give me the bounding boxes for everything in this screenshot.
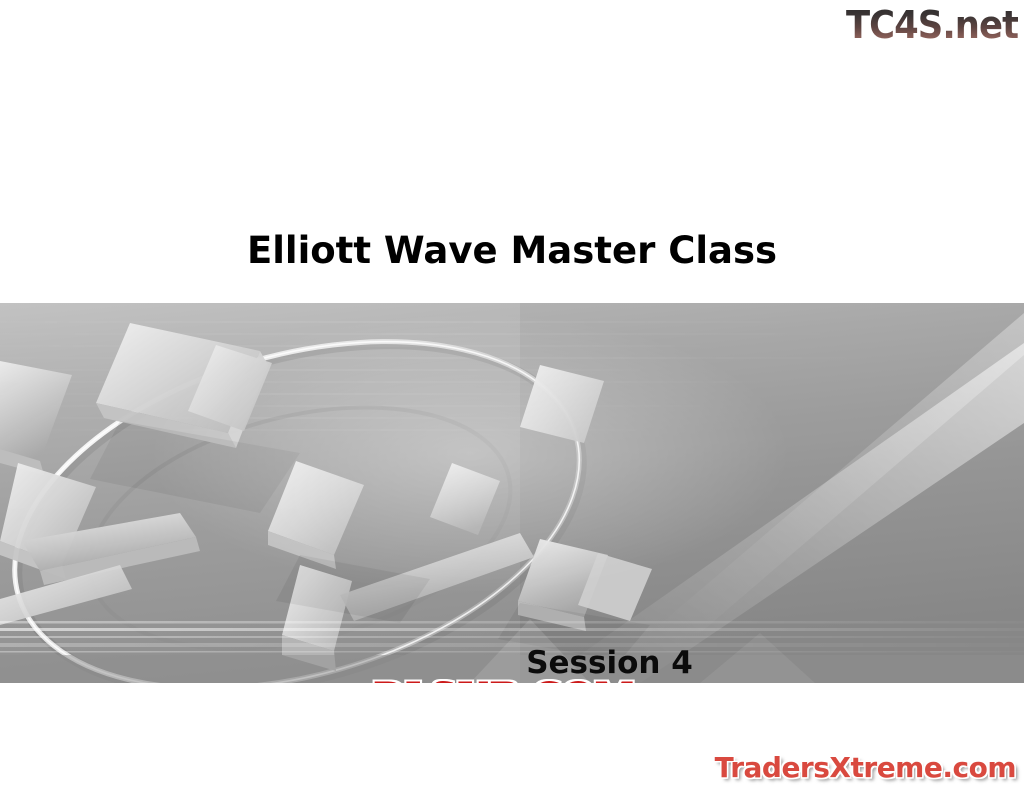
abstract-3d-ring-graphic [0, 303, 1024, 683]
tc4s-logo: TC4S.net [846, 2, 1018, 48]
decorative-image-band: Session 4 DLSUB.COM David Starr [0, 303, 1024, 683]
dlsub-watermark: DLSUB.COM [373, 675, 635, 683]
presentation-slide: TC4S.net Elliott Wave Master Class [0, 0, 1024, 791]
tradersxtreme-watermark: TradersXtreme.com [715, 750, 1016, 786]
page-title: Elliott Wave Master Class [0, 228, 1024, 274]
